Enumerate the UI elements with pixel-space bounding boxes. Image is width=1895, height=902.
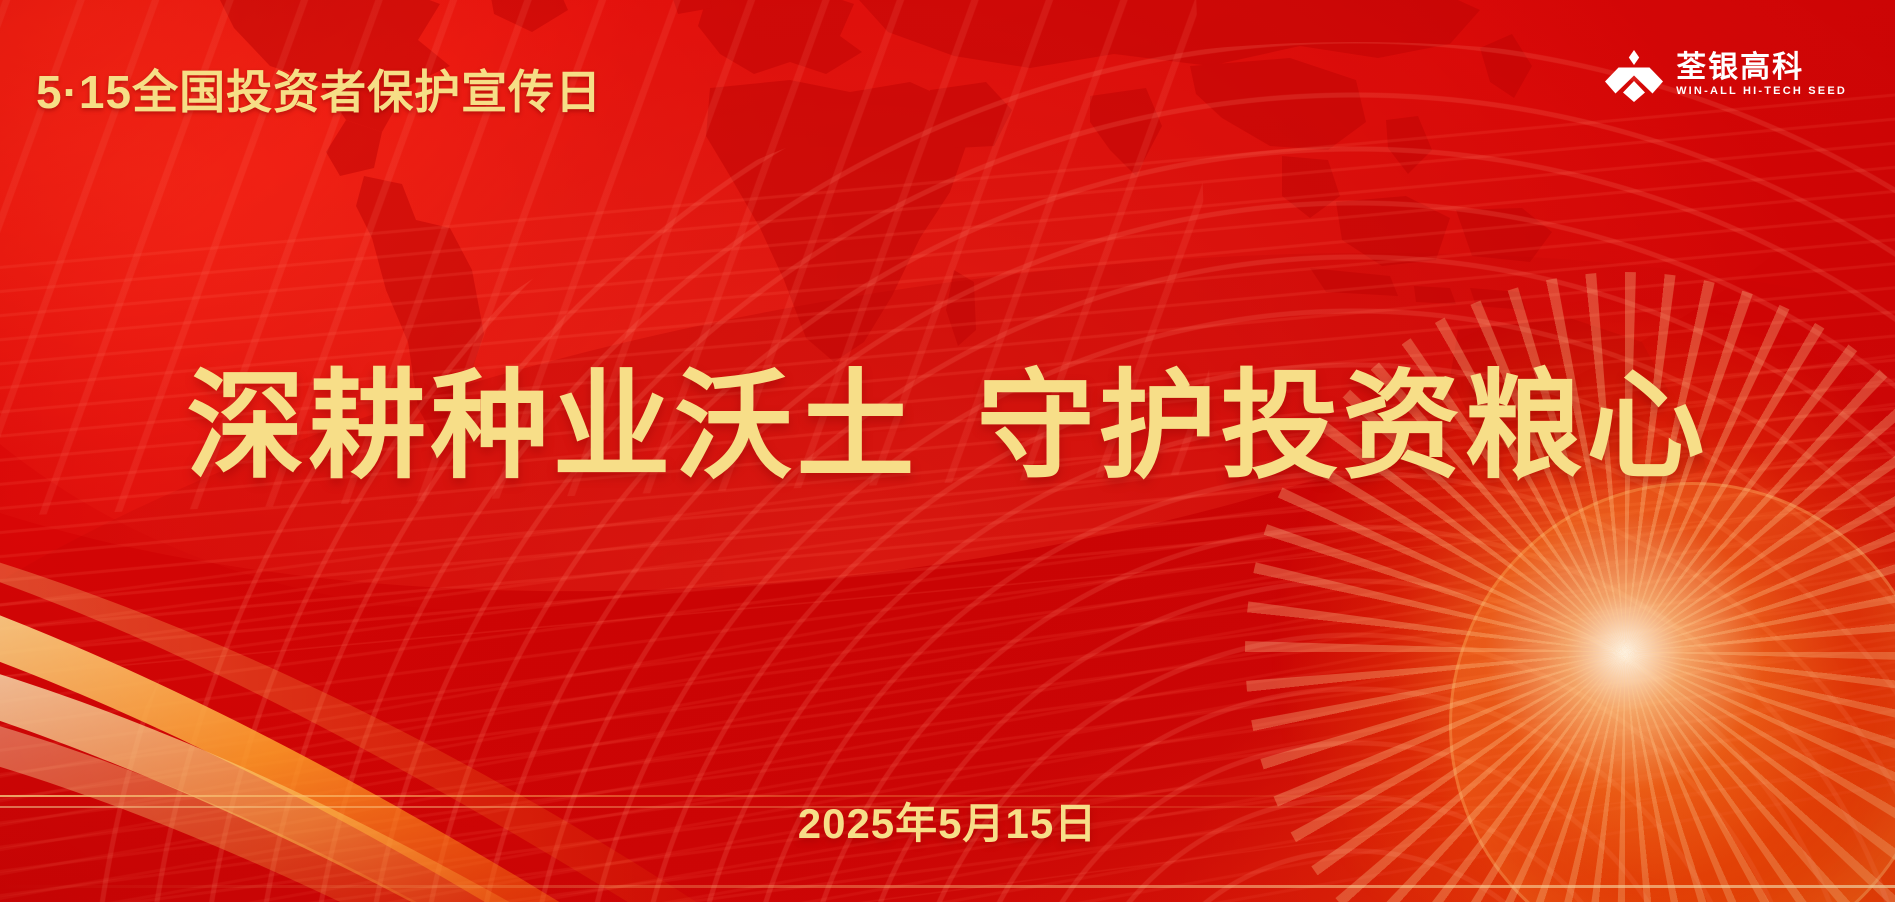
winall-chevron-logo-icon [1605, 48, 1663, 102]
brand-name-cn: 荃银高科 [1676, 53, 1847, 83]
brand-logo: 荃银高科 WIN-ALL HI-TECH SEED [1605, 48, 1847, 102]
brand-logo-text: 荃银高科 WIN-ALL HI-TECH SEED [1676, 53, 1847, 97]
headline-part-2: 守护投资粮心 [977, 361, 1709, 493]
theme-day-title: 5·15全国投资者保护宣传日 [36, 56, 602, 122]
poster-content: 5·15全国投资者保护宣传日 荃银高科 WIN-ALL HI-TECH SEED… [0, 0, 1895, 902]
event-date: 2025年5月15日 [0, 790, 1895, 851]
headline-part-1: 深耕种业沃土 [186, 361, 918, 493]
page-title: 深耕种业沃土守护投资粮心 [0, 330, 1895, 501]
brand-name-en: WIN-ALL HI-TECH SEED [1676, 86, 1847, 97]
poster-canvas: 5·15全国投资者保护宣传日 荃银高科 WIN-ALL HI-TECH SEED… [0, 0, 1895, 902]
